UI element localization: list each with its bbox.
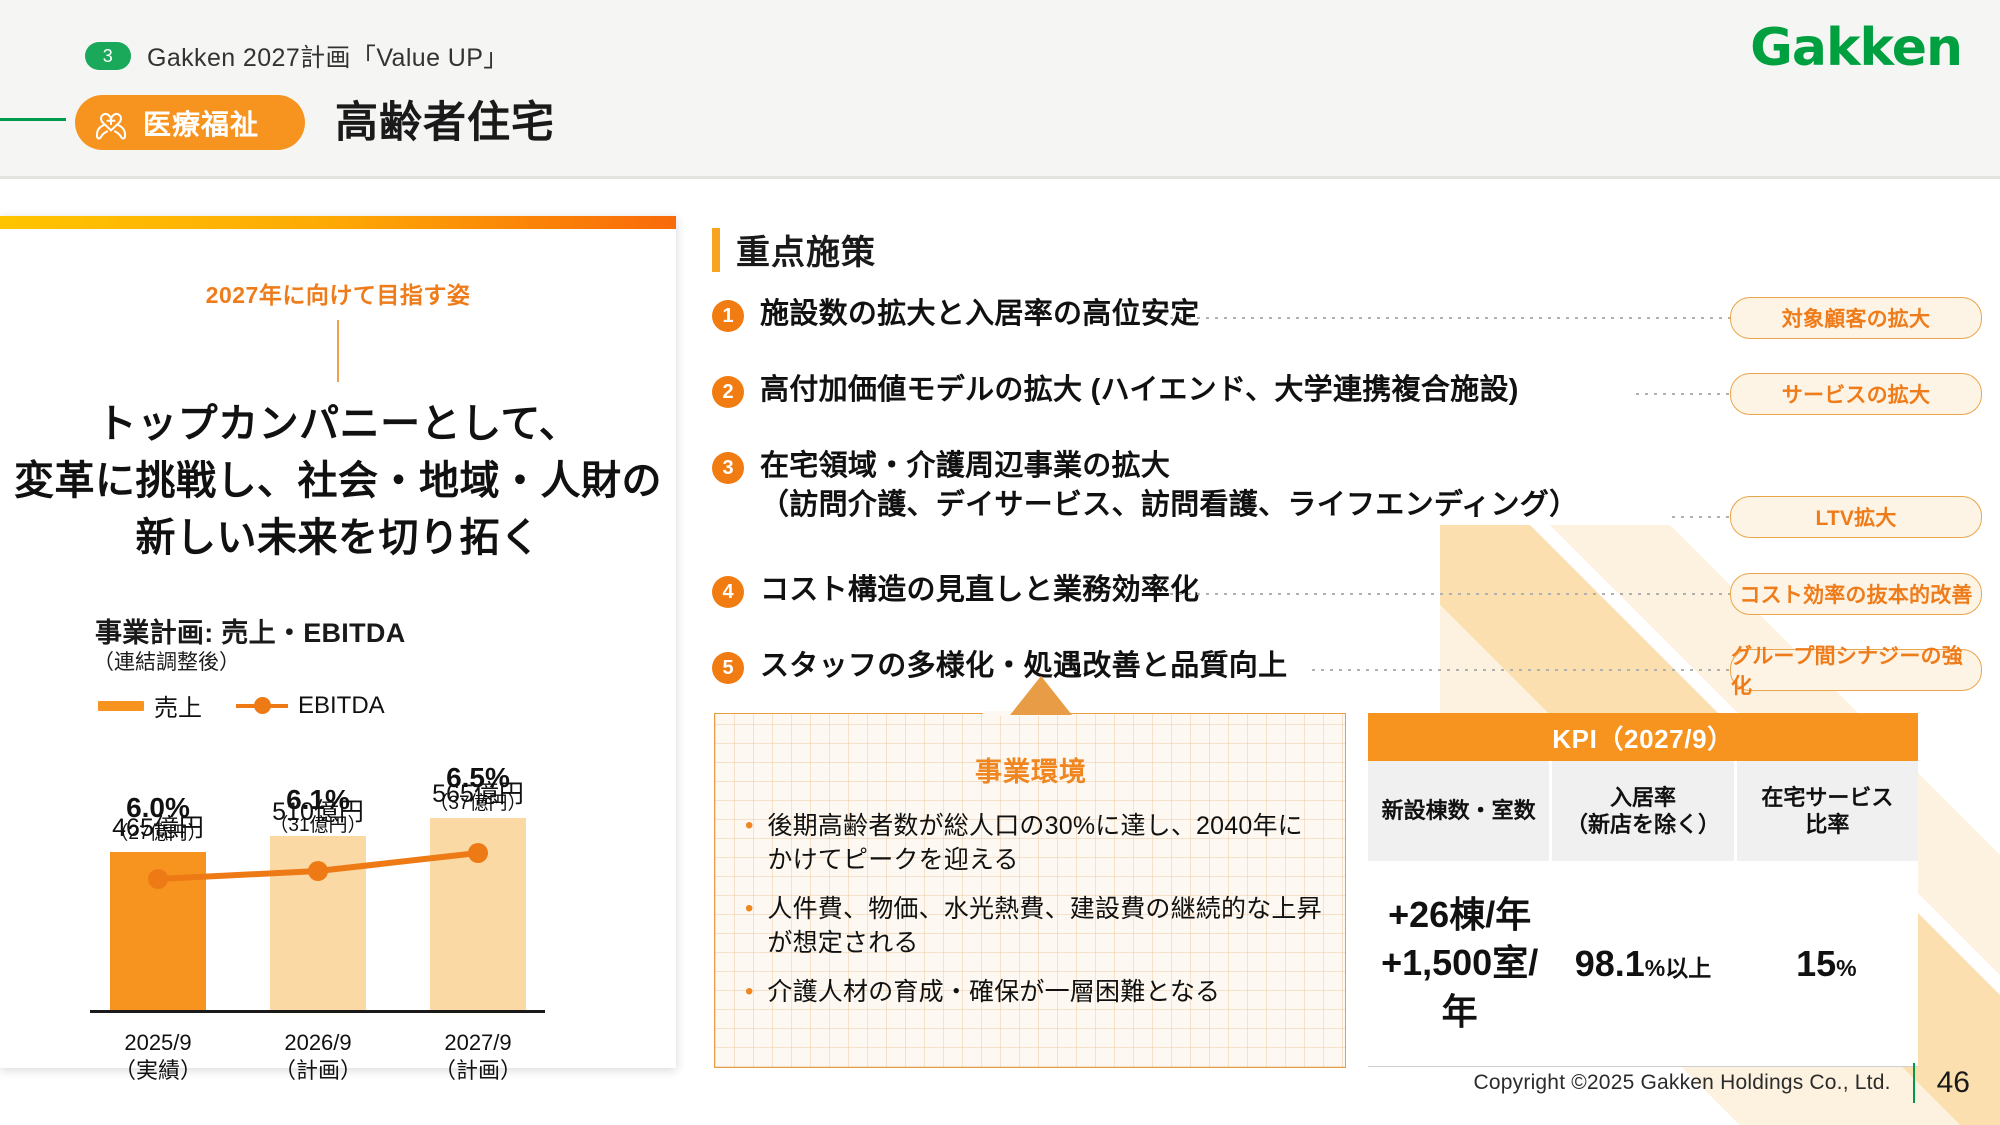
copyright-text: Copyright ©2025 Gakken Holdings Co., Ltd… (1474, 1071, 1891, 1095)
slide-footer: Copyright ©2025 Gakken Holdings Co., Ltd… (1474, 1063, 1970, 1103)
measure-number-4: 4 (712, 576, 744, 608)
measure-row-5[interactable]: 5 スタッフの多様化・処遇改善と品質向上 グループ間シナジーの強化 (712, 647, 1982, 703)
measure-text-3-line1: 在宅領域・介護周辺事業の拡大 (760, 447, 1578, 486)
vision-divider (337, 320, 339, 382)
heart-hands-icon (91, 104, 131, 142)
chart-title: 事業計画: 売上・EBITDA (95, 611, 406, 650)
ebitda-line-series (90, 731, 545, 1069)
breadcrumb: 3 Gakken 2027計画「Value UP」 (85, 38, 509, 74)
kpi-col3-line2: 比率 (1761, 811, 1893, 839)
footer-divider (1913, 1063, 1915, 1103)
measure-chip-5[interactable]: グループ間シナジーの強化 (1730, 649, 1982, 691)
environment-box: 事業環境 • 後期高齢者数が総人口の30%に達し、2040年にかけてピークを迎え… (714, 713, 1346, 1068)
ebitda-point-2025 (148, 869, 168, 889)
kpi-value-home-service: 15% (1735, 861, 1918, 1066)
legend-swatch-bar-icon (98, 701, 144, 711)
kpi-col3-line1: 在宅サービス (1761, 784, 1893, 812)
environment-bullet-1-text: 後期高齢者数が総人口の30%に達し、2040年にかけてピークを迎える (767, 810, 1323, 877)
measures-section-title: 重点施策 (736, 225, 876, 274)
breadcrumb-label: Gakken 2027計画「Value UP」 (147, 38, 509, 74)
environment-bullet-3-text: 介護人材の育成・確保が一層困難となる (767, 976, 1220, 1010)
page-number: 46 (1937, 1066, 1970, 1100)
chart-plot-area: 6.0% （27億円） 6.1% （31億円） 6.5% （37億円） 465億… (90, 731, 545, 1069)
slide-header (0, 0, 2000, 176)
legend-line-marker-icon (236, 704, 288, 708)
environment-bullet-3: • 介護人材の育成・確保が一層困難となる (745, 976, 1323, 1010)
kpi-value-occupancy: 98.1%以上 (1551, 861, 1734, 1066)
measure-text-3: 在宅領域・介護周辺事業の拡大 （訪問介護、デイサービス、訪問看護、ライフエンディ… (760, 447, 1578, 525)
business-plan-chart: 事業計画: 売上・EBITDA （連結調整後） 売上 EBITDA 6.0% (0, 611, 676, 1071)
leader-line-4 (1170, 593, 1788, 595)
kpi-value-new-buildings: +26棟/年 +1,500室/年 (1368, 861, 1551, 1066)
environment-bullet-list: • 後期高齢者数が総人口の30%に達し、2040年にかけてピークを迎える • 人… (745, 810, 1323, 1026)
leader-line-5 (1312, 669, 1788, 671)
kpi-value-home-service-suffix: % (1836, 955, 1856, 981)
bullet-dot-icon: • (745, 976, 753, 1010)
vision-statement: トップカンパニーとして、 変革に挑戦し、社会・地域・人財の 新しい未来を切り拓く (0, 396, 676, 566)
category-badge: 医療福祉 (75, 95, 305, 150)
environment-callout-pointer (1010, 676, 1072, 715)
legend-label-sales: 売上 (154, 688, 202, 723)
chart-legend: 売上 EBITDA (98, 688, 385, 723)
measure-text-1: 施設数の拡大と入居率の高位安定 (760, 295, 1200, 334)
kpi-col1-line1: 新設棟数・室数 (1382, 798, 1536, 823)
legend-item-ebitda: EBITDA (236, 692, 385, 720)
environment-bullet-2-text: 人件費、物価、水光熱費、建設費の継続的な上昇が想定される (767, 893, 1323, 960)
measure-row-1[interactable]: 1 施設数の拡大と入居率の高位安定 対象顧客の拡大 (712, 295, 1982, 351)
measures-section-header: 重点施策 (712, 225, 876, 274)
measure-number-5: 5 (712, 652, 744, 684)
ebitda-point-2026 (308, 861, 328, 881)
leader-line-1 (1170, 317, 1788, 319)
environment-bullet-1: • 後期高齢者数が総人口の30%に達し、2040年にかけてピークを迎える (745, 810, 1323, 877)
kpi-value-occupancy-suffix: %以上 (1645, 955, 1711, 981)
gakken-logo: Gakken (1750, 18, 1962, 78)
kpi-value-home-service-number: 15 (1796, 943, 1836, 984)
measure-chip-4[interactable]: コスト効率の抜本的改善 (1730, 573, 1982, 615)
measure-text-3-line2: （訪問介護、デイサービス、訪問看護、ライフエンディング） (760, 486, 1578, 525)
kpi-value-buildings-line2: +1,500室/年 (1368, 939, 1551, 1036)
vision-kicker: 2027年に向けて目指す姿 (0, 276, 676, 310)
kpi-col2-line1: 入居率 (1566, 784, 1720, 812)
vision-line-2: 変革に挑戦し、社会・地域・人財の (0, 453, 676, 510)
chart-subtitle: （連結調整後） (93, 646, 240, 676)
measure-chip-1[interactable]: 対象顧客の拡大 (1730, 297, 1982, 339)
kpi-column-header-home-service: 在宅サービス 比率 (1737, 761, 1918, 861)
environment-title: 事業環境 (715, 750, 1347, 789)
kpi-column-header-occupancy: 入居率 （新店を除く） (1552, 761, 1733, 861)
measure-row-4[interactable]: 4 コスト構造の見直しと業務効率化 コスト効率の抜本的改善 (712, 571, 1982, 627)
measure-chip-3[interactable]: LTV拡大 (1730, 496, 1982, 538)
measure-number-3: 3 (712, 452, 744, 484)
vision-card-gradient-bar (0, 216, 676, 229)
bullet-dot-icon: • (745, 810, 753, 877)
vision-line-3: 新しい未来を切り拓く (0, 510, 676, 567)
ebitda-point-2027 (468, 843, 488, 863)
legend-label-ebitda: EBITDA (298, 692, 385, 720)
page-title: 高齢者住宅 (335, 88, 555, 150)
kpi-value-occupancy-number: 98.1 (1575, 943, 1645, 984)
breadcrumb-number-badge: 3 (85, 42, 131, 70)
measure-number-2: 2 (712, 376, 744, 408)
vision-line-1: トップカンパニーとして、 (0, 396, 676, 453)
kpi-col2-line2: （新店を除く） (1566, 811, 1720, 839)
header-divider (0, 176, 2000, 179)
kpi-table: KPI（2027/9） 新設棟数・室数 入居率 （新店を除く） 在宅サービス 比… (1368, 713, 1918, 1067)
measure-text-2: 高付加価値モデルの拡大 (ハイエンド、大学連携複合施設) (760, 371, 1519, 410)
measure-row-3[interactable]: 3 在宅領域・介護周辺事業の拡大 （訪問介護、デイサービス、訪問看護、ライフエン… (712, 447, 1982, 551)
kpi-column-header-new-buildings: 新設棟数・室数 (1368, 761, 1549, 861)
kpi-header-row: 新設棟数・室数 入居率 （新店を除く） 在宅サービス 比率 (1368, 761, 1918, 861)
measure-text-4: コスト構造の見直しと業務効率化 (760, 571, 1200, 610)
legend-item-sales: 売上 (98, 688, 202, 723)
vision-card: 2027年に向けて目指す姿 トップカンパニーとして、 変革に挑戦し、社会・地域・… (0, 216, 676, 1068)
kpi-value-row: +26棟/年 +1,500室/年 98.1%以上 15% (1368, 861, 1918, 1067)
measure-row-2[interactable]: 2 高付加価値モデルの拡大 (ハイエンド、大学連携複合施設) サービスの拡大 (712, 371, 1982, 427)
measures-list: 1 施設数の拡大と入居率の高位安定 対象顧客の拡大 2 高付加価値モデルの拡大 … (712, 295, 1982, 723)
section-accent-bar (712, 228, 720, 272)
environment-bullet-2: • 人件費、物価、水光熱費、建設費の継続的な上昇が想定される (745, 893, 1323, 960)
kpi-value-buildings-line1: +26棟/年 (1368, 891, 1551, 940)
kpi-table-title: KPI（2027/9） (1368, 713, 1918, 761)
measure-chip-2[interactable]: サービスの拡大 (1730, 373, 1982, 415)
bullet-dot-icon: • (745, 893, 753, 960)
measure-number-1: 1 (712, 300, 744, 332)
category-badge-label: 医療福祉 (143, 103, 259, 143)
header-green-accent (0, 118, 66, 121)
